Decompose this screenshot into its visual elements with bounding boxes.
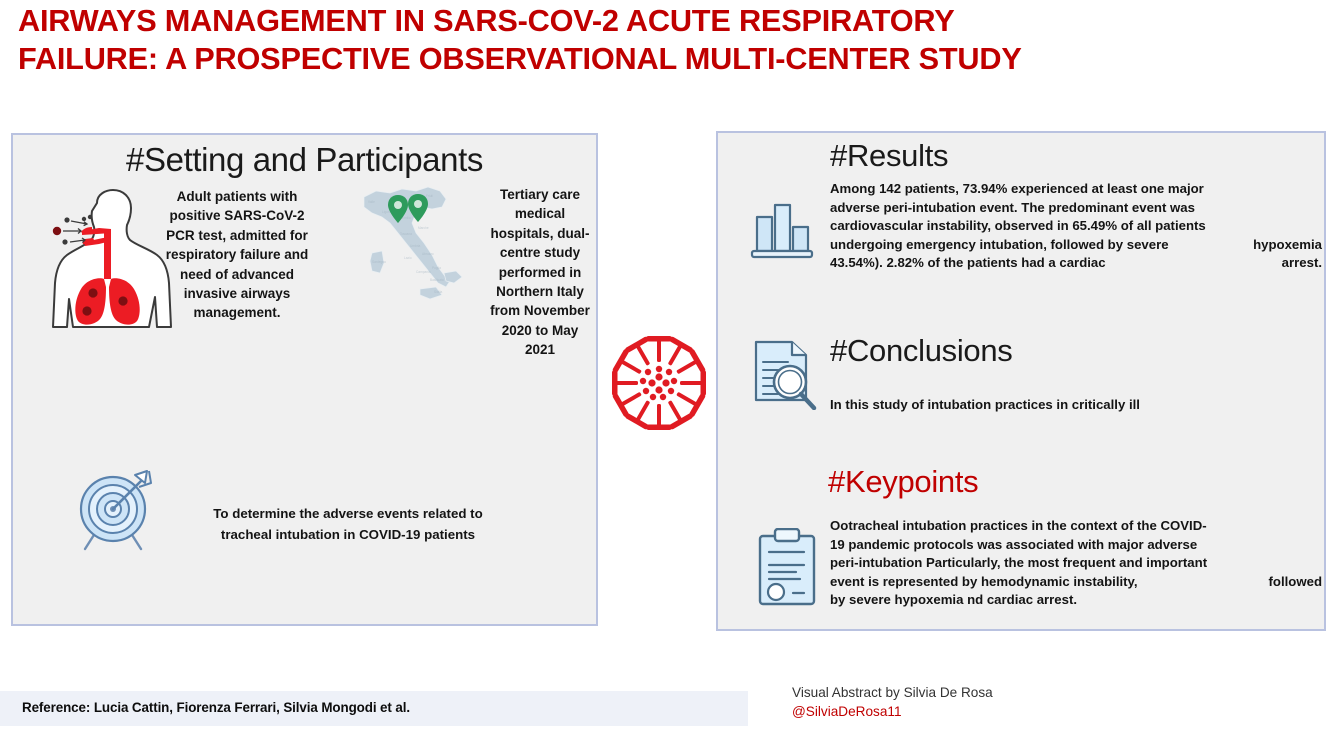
results-line-2: adverse peri-intubation event. The predo… <box>830 199 1322 218</box>
clipboard-icon <box>756 528 818 608</box>
keypoints-line-4: event is represented by hemodynamic inst… <box>830 573 1322 592</box>
setting-description: Tertiary care medical hospitals, dual-ce… <box>485 185 595 360</box>
keypoints-line-4-right: followed <box>1269 573 1322 592</box>
twitter-handle[interactable]: @SilviaDeRosa11 <box>792 702 993 721</box>
results-line-5-right: arrest. <box>1282 254 1322 273</box>
svg-text:Sicilia: Sicilia <box>434 290 443 294</box>
results-heading: #Results <box>830 138 948 174</box>
participants-description: Adult patients with positive SARS-CoV-2 … <box>163 187 311 323</box>
keypoints-heading: #Keypoints <box>828 464 978 500</box>
results-line-4-right: hypoxemia <box>1253 236 1322 255</box>
results-line-5-left: 43.54%). 2.82% of the patients had a car… <box>830 254 1106 273</box>
keypoints-line-1: Ootracheal intubation practices in the c… <box>830 517 1322 536</box>
svg-text:Lazio: Lazio <box>404 256 412 260</box>
coronavirus-icon <box>608 328 710 438</box>
svg-text:Puglia: Puglia <box>432 266 441 270</box>
svg-text:Abruzzo: Abruzzo <box>422 252 434 256</box>
results-line-1: Among 142 patients, 73.94% experienced a… <box>830 180 1322 199</box>
svg-text:Emilia: Emilia <box>402 216 411 220</box>
keypoints-body-text: Ootracheal intubation practices in the c… <box>830 517 1322 610</box>
results-line-4: undergoing emergency intubation, followe… <box>830 236 1322 255</box>
results-body-text: Among 142 patients, 73.94% experienced a… <box>830 180 1322 273</box>
reference-text: Reference: Lucia Cattin, Fiorenza Ferrar… <box>22 700 410 715</box>
study-objective-text: To determine the adverse events related … <box>188 503 508 545</box>
setting-participants-heading: #Setting and Participants <box>13 141 596 179</box>
document-magnifier-icon <box>748 338 820 410</box>
keypoints-line-4-left: event is represented by hemodynamic inst… <box>830 573 1138 592</box>
bar-chart-icon <box>748 193 816 261</box>
conclusions-body-text: In this study of intubation practices in… <box>830 396 1322 415</box>
svg-text:Sardegna: Sardegna <box>372 260 386 264</box>
conclusions-heading: #Conclusions <box>830 333 1013 369</box>
svg-text:Valle: Valle <box>368 200 375 204</box>
svg-text:Campania: Campania <box>416 270 431 274</box>
keypoints-line-5: by severe hypoxemia nd cardiac arrest. <box>830 591 1322 610</box>
results-line-4-left: undergoing emergency intubation, followe… <box>830 236 1169 255</box>
keypoints-line-3: peri-intubation Particularly, the most f… <box>830 554 1322 573</box>
page-title-line-2: failure: a prospective observational mul… <box>18 40 1186 78</box>
lungs-airway-infection-icon <box>37 187 179 332</box>
target-dartboard-icon <box>73 467 159 553</box>
attribution-block: Visual Abstract by Silvia De Rosa @Silvi… <box>792 683 993 721</box>
results-line-3: cardiovascular instability, observed in … <box>830 217 1322 236</box>
svg-text:Basilicata: Basilicata <box>430 278 444 282</box>
keypoints-line-2: 19 pandemic protocols was associated wit… <box>830 536 1322 555</box>
svg-text:Toscana: Toscana <box>400 232 412 236</box>
results-line-5: 43.54%). 2.82% of the patients had a car… <box>830 254 1322 273</box>
page-title-line-1: Airways management in SARS-CoV-2 acute r… <box>18 2 1186 40</box>
page-title: Airways management in SARS-CoV-2 acute r… <box>18 2 1186 78</box>
svg-text:Marche: Marche <box>418 226 429 230</box>
italy-map-icon: ValleLombardia FriuliLiguria EmiliaMarch… <box>346 177 478 305</box>
svg-text:Friuli: Friuli <box>426 194 433 198</box>
svg-text:Umbria: Umbria <box>410 244 420 248</box>
setting-and-participants-panel: #Setting and Participants <box>11 133 598 626</box>
reference-bar: Reference: Lucia Cattin, Fiorenza Ferrar… <box>0 691 748 726</box>
results-conclusions-keypoints-panel: #Results Among 142 patients, 73.94% expe… <box>716 131 1326 631</box>
visual-abstract-credit: Visual Abstract by Silvia De Rosa <box>792 683 993 702</box>
